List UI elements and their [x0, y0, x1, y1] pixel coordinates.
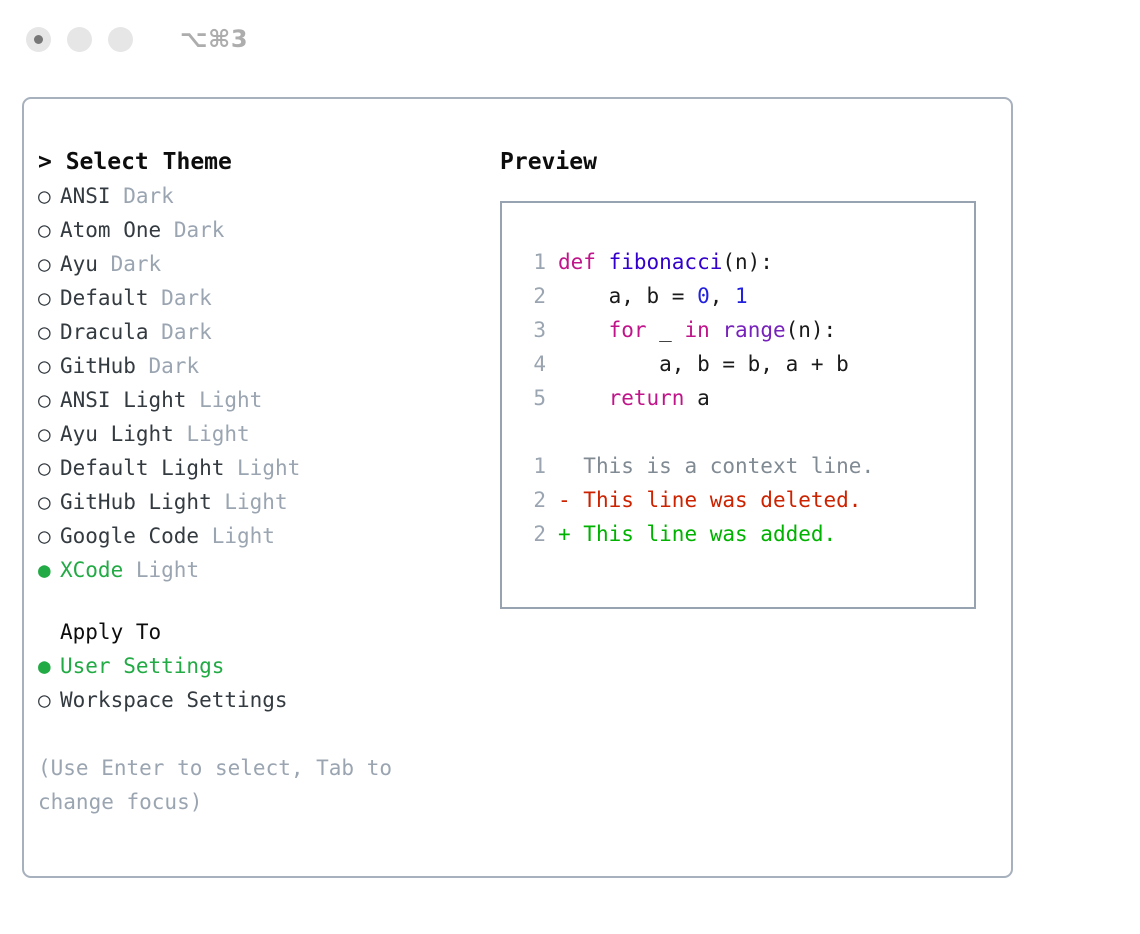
theme-option-label: XCode	[60, 558, 123, 582]
diff-marker	[558, 454, 583, 478]
code-line-number: 1	[516, 245, 546, 279]
code-token: a, b = b, a + b	[558, 352, 849, 376]
diff-line-number: 2	[516, 483, 546, 517]
traffic-light-3[interactable]	[108, 27, 133, 52]
code-token: def	[558, 250, 609, 274]
code-line: 4 a, b = b, a + b	[516, 347, 966, 381]
theme-option-kind: Light	[199, 388, 262, 412]
theme-option-xcode[interactable]: ●XCode Light	[38, 553, 468, 587]
theme-list: ○ANSI Dark○Atom One Dark○Ayu Dark○Defaul…	[38, 179, 468, 587]
diff-line-number: 1	[516, 449, 546, 483]
preview-box: 1def fibonacci(n):2 a, b = 0, 13 for _ i…	[500, 201, 976, 609]
traffic-light-2[interactable]	[67, 27, 92, 52]
theme-option-label: Ayu Light	[60, 422, 174, 446]
radio-selected-icon: ●	[38, 553, 60, 587]
theme-option-github-light[interactable]: ○GitHub Light Light	[38, 485, 468, 519]
theme-option-ansi-light[interactable]: ○ANSI Light Light	[38, 383, 468, 417]
spacer	[98, 252, 111, 276]
theme-option-kind: Light	[186, 422, 249, 446]
spacer	[224, 456, 237, 480]
apply-to-option-label: User Settings	[60, 654, 224, 678]
theme-option-ayu[interactable]: ○Ayu Dark	[38, 247, 468, 281]
theme-option-default[interactable]: ○Default Dark	[38, 281, 468, 315]
theme-option-default-light[interactable]: ○Default Light Light	[38, 451, 468, 485]
theme-option-label: GitHub Light	[60, 490, 212, 514]
diff-block: 1 This is a context line.2- This line wa…	[516, 449, 966, 551]
diff-line: 2+ This line was added.	[516, 517, 966, 551]
radio-unselected-icon: ○	[38, 213, 60, 247]
theme-option-label: Atom One	[60, 218, 161, 242]
apply-to-list: ●User Settings○Workspace Settings	[38, 649, 468, 717]
diff-text: This line was deleted.	[583, 488, 861, 512]
theme-option-kind: Dark	[161, 286, 212, 310]
code-token: in	[684, 318, 709, 342]
radio-unselected-icon: ○	[38, 519, 60, 553]
window-titlebar: ⌥⌘3	[0, 0, 1140, 78]
code-token: range	[722, 318, 785, 342]
radio-unselected-icon: ○	[38, 281, 60, 315]
theme-option-google-code[interactable]: ○Google Code Light	[38, 519, 468, 553]
theme-option-kind: Light	[136, 558, 199, 582]
code-token: for	[609, 318, 647, 342]
keyboard-shortcut-label: ⌥⌘3	[180, 25, 248, 53]
preview-column: Preview 1def fibonacci(n):2 a, b = 0, 13…	[500, 145, 1000, 609]
code-token	[558, 318, 609, 342]
apply-to-option-workspace-settings[interactable]: ○Workspace Settings	[38, 683, 468, 717]
diff-line-number: 2	[516, 517, 546, 551]
code-token: fibonacci	[609, 250, 723, 274]
radio-unselected-icon: ○	[38, 417, 60, 451]
theme-option-dracula[interactable]: ○Dracula Dark	[38, 315, 468, 349]
radio-unselected-icon: ○	[38, 485, 60, 519]
apply-to-heading: Apply To	[38, 615, 468, 649]
theme-option-label: Dracula	[60, 320, 149, 344]
radio-unselected-icon: ○	[38, 451, 60, 485]
theme-option-kind: Light	[224, 490, 287, 514]
radio-selected-icon: ●	[38, 649, 60, 683]
code-token: ,	[710, 284, 735, 308]
diff-line: 1 This is a context line.	[516, 449, 966, 483]
traffic-light-1[interactable]	[26, 27, 51, 52]
window-controls	[26, 27, 133, 52]
code-line-number: 4	[516, 347, 546, 381]
code-token: a	[684, 386, 709, 410]
theme-option-kind: Light	[212, 524, 275, 548]
theme-option-atom-one[interactable]: ○Atom One Dark	[38, 213, 468, 247]
theme-option-kind: Dark	[111, 252, 162, 276]
code-token: (n):	[722, 250, 773, 274]
theme-option-kind: Dark	[161, 320, 212, 344]
code-line: 3 for _ in range(n):	[516, 313, 966, 347]
code-token	[710, 318, 723, 342]
theme-option-label: Google Code	[60, 524, 199, 548]
spacer	[123, 558, 136, 582]
code-token: (n):	[786, 318, 837, 342]
theme-option-label: Ayu	[60, 252, 98, 276]
code-line-number: 2	[516, 279, 546, 313]
code-token: return	[609, 386, 685, 410]
theme-option-kind: Light	[237, 456, 300, 480]
theme-selector-column: > Select Theme ○ANSI Dark○Atom One Dark○…	[38, 145, 468, 819]
apply-to-option-user-settings[interactable]: ●User Settings	[38, 649, 468, 683]
theme-option-label: ANSI Light	[60, 388, 186, 412]
code-line: 5 return a	[516, 381, 966, 415]
theme-option-ansi[interactable]: ○ANSI Dark	[38, 179, 468, 213]
radio-unselected-icon: ○	[38, 349, 60, 383]
theme-option-label: Default Light	[60, 456, 224, 480]
code-line-number: 5	[516, 381, 546, 415]
radio-unselected-icon: ○	[38, 247, 60, 281]
spacer	[212, 490, 225, 514]
theme-option-label: GitHub	[60, 354, 136, 378]
spacer	[136, 354, 149, 378]
radio-unselected-icon: ○	[38, 683, 60, 717]
code-token: 0	[697, 284, 710, 308]
select-theme-heading: > Select Theme	[38, 145, 468, 179]
code-token: a, b =	[558, 284, 697, 308]
spacer	[161, 218, 174, 242]
diff-text: This line was added.	[583, 522, 836, 546]
spacer	[149, 320, 162, 344]
code-block: 1def fibonacci(n):2 a, b = 0, 13 for _ i…	[516, 245, 966, 415]
preview-heading: Preview	[500, 145, 1000, 179]
theme-option-kind: Dark	[174, 218, 225, 242]
theme-option-github[interactable]: ○GitHub Dark	[38, 349, 468, 383]
code-line: 2 a, b = 0, 1	[516, 279, 966, 313]
code-token: 1	[735, 284, 748, 308]
theme-option-kind: Dark	[149, 354, 200, 378]
diff-text: This is a context line.	[583, 454, 874, 478]
theme-option-ayu-light[interactable]: ○Ayu Light Light	[38, 417, 468, 451]
code-token	[558, 386, 609, 410]
code-line: 1def fibonacci(n):	[516, 245, 966, 279]
diff-line: 2- This line was deleted.	[516, 483, 966, 517]
preview-code-area: 1def fibonacci(n):2 a, b = 0, 13 for _ i…	[516, 245, 966, 551]
radio-unselected-icon: ○	[38, 315, 60, 349]
code-token: _	[647, 318, 685, 342]
theme-option-label: Default	[60, 286, 149, 310]
spacer	[149, 286, 162, 310]
radio-unselected-icon: ○	[38, 383, 60, 417]
diff-marker: -	[558, 488, 583, 512]
apply-to-option-label: Workspace Settings	[60, 688, 288, 712]
code-line-number: 3	[516, 313, 546, 347]
theme-option-kind: Dark	[123, 184, 174, 208]
keyboard-hint-text: (Use Enter to select, Tab to change focu…	[38, 751, 453, 819]
theme-option-label: ANSI	[60, 184, 111, 208]
main-panel: > Select Theme ○ANSI Dark○Atom One Dark○…	[22, 97, 1013, 878]
traffic-light-1-indicator	[34, 35, 43, 44]
diff-marker: +	[558, 522, 583, 546]
radio-unselected-icon: ○	[38, 179, 60, 213]
spacer	[174, 422, 187, 446]
code-blank-separator	[516, 415, 966, 449]
spacer	[111, 184, 124, 208]
spacer	[199, 524, 212, 548]
spacer	[186, 388, 199, 412]
